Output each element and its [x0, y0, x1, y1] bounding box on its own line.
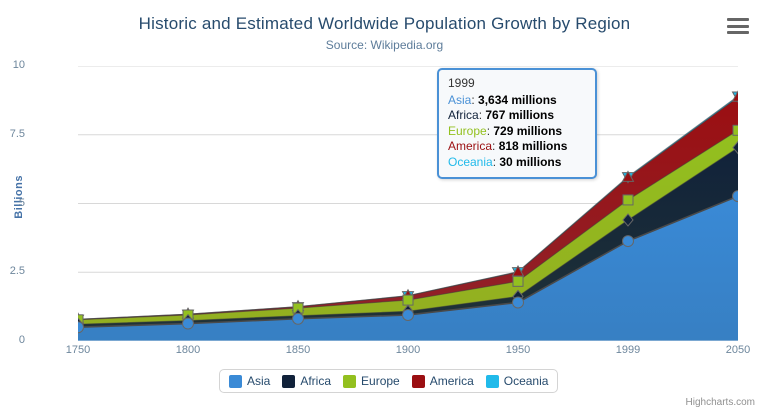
y-tick-label: 0 [0, 335, 25, 346]
y-tick-label: 2.5 [0, 266, 25, 277]
tooltip-series-value: 767 millions [485, 108, 554, 122]
tooltip-series-name: Africa [448, 108, 479, 122]
y-tick-label: 5 [0, 198, 25, 209]
tooltip-series-name: Europe [448, 124, 487, 138]
tooltip-series-value: 729 millions [493, 124, 562, 138]
tooltip-row: Africa: 767 millions [448, 108, 586, 124]
legend-item-africa[interactable]: Africa [282, 374, 331, 388]
tooltip-row: America: 818 millions [448, 139, 586, 155]
credits-label: Highcharts.com [686, 397, 755, 408]
marker-europe [403, 295, 413, 305]
tooltip-series-name: Oceania [448, 155, 493, 169]
x-tick-label: 1850 [263, 344, 333, 356]
legend-swatch-icon [486, 375, 499, 388]
legend-label: Africa [300, 374, 331, 388]
legend-swatch-icon [282, 375, 295, 388]
plot-area [78, 66, 738, 341]
legend-label: America [430, 374, 474, 388]
marker-asia [183, 318, 194, 329]
legend-item-america[interactable]: America [412, 374, 474, 388]
tooltip-series-value: 3,634 millions [478, 93, 557, 107]
marker-asia [513, 297, 524, 308]
x-tick-label: 1950 [483, 344, 553, 356]
marker-europe [513, 276, 523, 286]
marker-europe [623, 195, 633, 205]
marker-asia [293, 313, 304, 324]
legend-item-oceania[interactable]: Oceania [486, 374, 549, 388]
x-tick-label: 1999 [593, 344, 663, 356]
tooltip-rows: Asia: 3,634 millionsAfrica: 767 millions… [448, 93, 586, 171]
legend-swatch-icon [343, 375, 356, 388]
marker-europe [733, 125, 738, 135]
hamburger-bar [727, 25, 749, 28]
y-tick-label: 7.5 [0, 129, 25, 140]
tooltip-row: Asia: 3,634 millions [448, 93, 586, 109]
tooltip-series-name: America [448, 139, 492, 153]
tooltip-series-name: Asia [448, 93, 471, 107]
tooltip: 1999 Asia: 3,634 millionsAfrica: 767 mil… [437, 68, 597, 179]
hamburger-menu-icon[interactable] [727, 17, 749, 35]
legend-label: Asia [247, 374, 270, 388]
legend: AsiaAfricaEuropeAmericaOceania [219, 369, 558, 393]
tooltip-separator: : [471, 93, 478, 107]
marker-asia [403, 309, 414, 320]
tooltip-row: Oceania: 30 millions [448, 155, 586, 171]
marker-asia [623, 236, 634, 247]
legend-label: Europe [361, 374, 400, 388]
y-tick-label: 10 [0, 60, 25, 71]
legend-items: AsiaAfricaEuropeAmericaOceania [229, 374, 548, 388]
tooltip-header: 1999 [448, 76, 586, 92]
area-chart-svg [78, 66, 738, 341]
legend-swatch-icon [229, 375, 242, 388]
hamburger-bar [727, 18, 749, 21]
highcharts-container: Historic and Estimated Worldwide Populat… [0, 0, 769, 416]
x-tick-label: 1750 [43, 344, 113, 356]
legend-label: Oceania [504, 374, 549, 388]
hamburger-bar [727, 31, 749, 34]
tooltip-row: Europe: 729 millions [448, 124, 586, 140]
legend-item-asia[interactable]: Asia [229, 374, 270, 388]
tooltip-separator: : [492, 139, 499, 153]
x-tick-label: 1800 [153, 344, 223, 356]
tooltip-series-value: 30 millions [499, 155, 561, 169]
tooltip-series-value: 818 millions [499, 139, 568, 153]
x-tick-label: 2050 [703, 344, 769, 356]
legend-item-europe[interactable]: Europe [343, 374, 400, 388]
chart-title: Historic and Estimated Worldwide Populat… [0, 14, 769, 34]
chart-subtitle: Source: Wikipedia.org [0, 38, 769, 52]
x-tick-label: 1900 [373, 344, 443, 356]
legend-swatch-icon [412, 375, 425, 388]
